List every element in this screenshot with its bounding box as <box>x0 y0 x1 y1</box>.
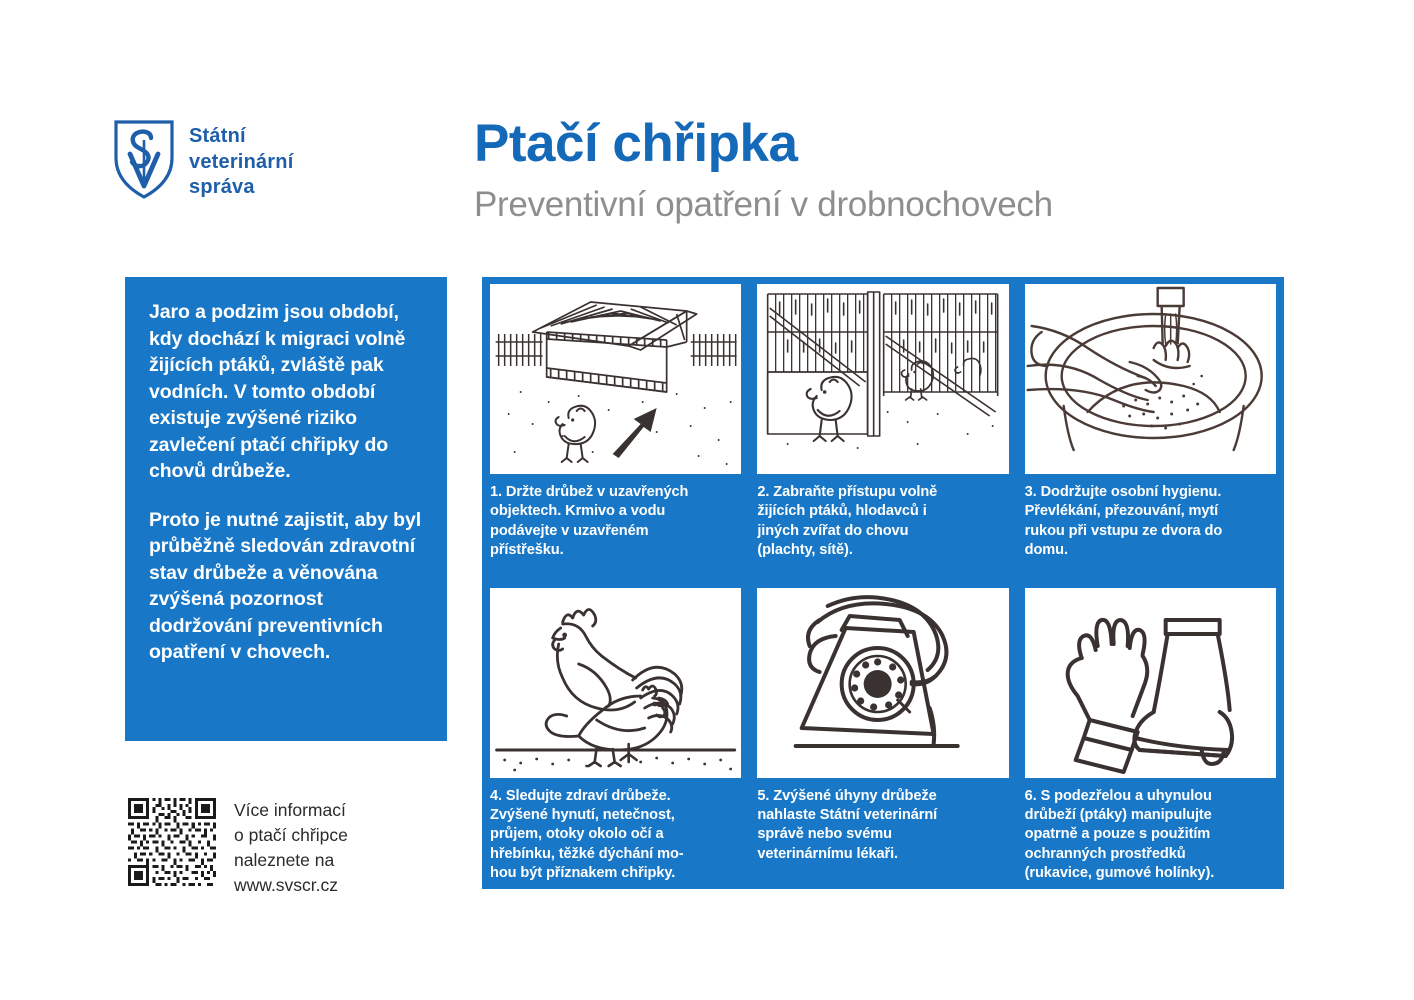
caption-line: hřebínku, těžké dýchání mo- <box>490 845 741 864</box>
logo-line-1: Státní <box>189 124 293 150</box>
panel-step-2: 2. Zabraňte přístupu volně žijících pták… <box>749 277 1016 581</box>
page-title: Ptačí chřipka <box>474 116 1053 172</box>
panel-2-image <box>757 284 1008 474</box>
more-info-text: Více informací o ptačí chřipce naleznete… <box>234 798 348 897</box>
more-info-line-2: o ptačí chřipce <box>234 823 348 848</box>
panel-5-caption: 5. Zvýšené úhyny drůbeže nahlaste Státní… <box>757 787 1008 864</box>
panel-6-caption: 6. S podezřelou a uhynulou drůbeží (pták… <box>1025 787 1276 883</box>
caption-line: přístřešku. <box>490 541 741 560</box>
shield-caduceus-icon <box>113 118 175 200</box>
caption-line: rukou při vstupu ze dvora do <box>1025 522 1276 541</box>
caption-line: (plachty, sítě). <box>757 541 1008 560</box>
panel-step-3: 3. Dodržujte osobní hygienu. Převlékání,… <box>1017 277 1284 581</box>
caption-line: Převlékání, přezouvání, mytí <box>1025 502 1276 521</box>
logo-line-3: správa <box>189 175 293 201</box>
panel-5-image <box>757 588 1008 778</box>
poster-root: Státní veterinární správa Ptačí chřipka … <box>0 0 1414 1000</box>
caption-line: 6. S podezřelou a uhynulou <box>1025 787 1276 806</box>
caption-line: veterinárnímu lékaři. <box>757 845 1008 864</box>
panel-1-image <box>490 284 741 474</box>
panel-step-5: 5. Zvýšené úhyny drůbeže nahlaste Státní… <box>749 581 1016 889</box>
handwashing-basin-icon <box>1025 284 1276 474</box>
caption-line: jiných zvířat do chovu <box>757 522 1008 541</box>
caption-line: Zvýšené hynutí, netečnost, <box>490 806 741 825</box>
website-url[interactable]: www.svscr.cz <box>234 873 348 898</box>
organization-logo: Státní veterinární správa <box>113 118 293 201</box>
panel-4-caption: 4. Sledujte zdraví drůbeže. Zvýšené hynu… <box>490 787 741 883</box>
caption-line: 3. Dodržujte osobní hygienu. <box>1025 483 1276 502</box>
poster-header: Státní veterinární správa Ptačí chřipka … <box>0 0 1414 250</box>
page-subtitle: Preventivní opatření v drobnochovech <box>474 186 1053 225</box>
panel-2-caption: 2. Zabraňte přístupu volně žijících pták… <box>757 483 1008 560</box>
caption-line: domu. <box>1025 541 1276 560</box>
caption-line: 2. Zabraňte přístupu volně <box>757 483 1008 502</box>
panel-step-4: 4. Sledujte zdraví drůbeže. Zvýšené hynu… <box>482 581 749 889</box>
caption-line: průjem, otoky okolo očí a <box>490 825 741 844</box>
caption-line: žijících ptáků, hlodavců i <box>757 502 1008 521</box>
caption-line: opatrně a pouze s použitím <box>1025 825 1276 844</box>
caption-line: 1. Držte drůbež v uzavřených <box>490 483 741 502</box>
barn-with-chicken-and-arrow-icon <box>490 284 741 474</box>
caption-line: (rukavice, gumové holínky). <box>1025 864 1276 883</box>
caption-line: objektech. Krmivo a vodu <box>490 502 741 521</box>
caption-line: hou být příznakem chřipky. <box>490 864 741 883</box>
caption-line: 5. Zvýšené úhyny drůbeže <box>757 787 1008 806</box>
intro-text-box: Jaro a podzim jsou období, kdy dochází k… <box>125 277 447 741</box>
panel-6-image <box>1025 588 1276 778</box>
panel-4-image <box>490 588 741 778</box>
panel-step-6: 6. S podezřelou a uhynulou drůbeží (pták… <box>1017 581 1284 889</box>
caption-line: podávejte v uzavřeném <box>490 522 741 541</box>
intro-paragraph-2: Proto je nutné zajistit, aby byl průběžn… <box>149 507 423 666</box>
rotary-telephone-icon <box>757 588 1008 778</box>
more-info-line-3: naleznete na <box>234 848 348 873</box>
title-block: Ptačí chřipka Preventivní opatření v dro… <box>474 116 1053 224</box>
caption-line: ochranných prostředků <box>1025 845 1276 864</box>
caption-line: nahlaste Státní veterinární <box>757 806 1008 825</box>
panel-1-caption: 1. Držte drůbež v uzavřených objektech. … <box>490 483 741 560</box>
intro-paragraph-1: Jaro a podzim jsou období, kdy dochází k… <box>149 299 423 485</box>
panel-step-1: 1. Držte drůbež v uzavřených objektech. … <box>482 277 749 581</box>
qr-code-icon[interactable] <box>128 798 216 886</box>
caption-line: správě nebo svému <box>757 825 1008 844</box>
more-info-line-1: Více informací <box>234 798 348 823</box>
panel-3-image <box>1025 284 1276 474</box>
prevention-steps-grid: 1. Držte drůbež v uzavřených objektech. … <box>482 277 1284 889</box>
panel-3-caption: 3. Dodržujte osobní hygienu. Převlékání,… <box>1025 483 1276 560</box>
logo-line-2: veterinární <box>189 150 293 176</box>
fence-netting-with-chickens-icon <box>757 284 1008 474</box>
footer-info: Více informací o ptačí chřipce naleznete… <box>128 798 348 897</box>
caption-line: 4. Sledujte zdraví drůbeže. <box>490 787 741 806</box>
caption-line: drůbeží (ptáky) manipulujte <box>1025 806 1276 825</box>
glove-and-rubber-boot-icon <box>1025 588 1276 778</box>
logo-wordmark: Státní veterinární správa <box>189 118 293 201</box>
rooster-and-hen-icon <box>490 588 741 778</box>
